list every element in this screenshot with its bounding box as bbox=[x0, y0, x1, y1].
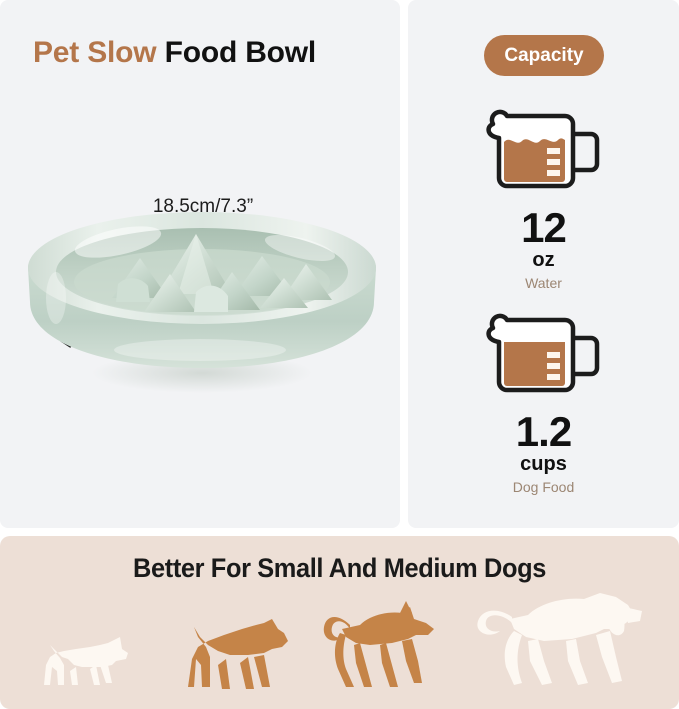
dog-silhouette-large-retriever bbox=[476, 585, 648, 698]
capacity-item-dog-food: 1.2 cups Dog Food bbox=[408, 312, 679, 495]
dog-silhouette-small-terrier bbox=[186, 615, 292, 698]
page-title-accent: Pet Slow bbox=[33, 36, 156, 69]
product-infographic: Pet Slow Food Bowl 18.5cm/7.3” 4.2cm/1.6… bbox=[0, 0, 679, 709]
capacity-label-dog-food: Dog Food bbox=[408, 479, 679, 495]
dog-size-illustrations bbox=[0, 594, 679, 704]
banner-heading: Better For Small And Medium Dogs bbox=[20, 553, 658, 584]
capacity-value-water: 12 bbox=[408, 206, 679, 251]
page-title: Pet Slow Food Bowl bbox=[33, 36, 316, 70]
measuring-cup-liquid-icon bbox=[408, 108, 679, 199]
capacity-item-water: 12 oz Water bbox=[408, 108, 679, 291]
capacity-unit-dog-food: cups bbox=[408, 453, 679, 475]
capacity-label-water: Water bbox=[408, 275, 679, 291]
product-overview-panel: Pet Slow Food Bowl 18.5cm/7.3” 4.2cm/1.6… bbox=[0, 0, 400, 528]
capacity-unit-water: oz bbox=[408, 249, 679, 271]
capacity-badge: Capacity bbox=[484, 35, 604, 76]
capacity-value-dog-food: 1.2 bbox=[408, 410, 679, 455]
dog-silhouette-medium-shiba bbox=[316, 599, 448, 698]
dog-silhouette-small-chihuahua bbox=[42, 631, 138, 698]
product-image-bowl bbox=[0, 190, 400, 420]
page-title-rest: Food Bowl bbox=[156, 36, 316, 69]
measuring-cup-solid-icon bbox=[408, 312, 679, 403]
